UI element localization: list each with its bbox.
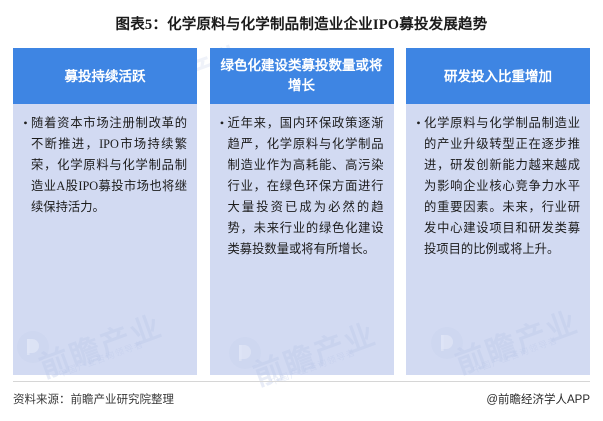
column-1-text: 随着资本市场注册制改革的不断推进，IPO市场持续繁荣，化学原料与化学制品制造业A…	[31, 113, 187, 218]
footer-divider	[13, 381, 590, 382]
column-1: 募投持续活跃 • 随着资本市场注册制改革的不断推进，IPO市场持续繁荣，化学原料…	[13, 48, 197, 375]
column-3-header: 研发投入比重增加	[406, 48, 590, 104]
source-note: 资料来源：前瞻产业研究院整理	[13, 391, 174, 407]
column-3-text: 化学原料与化学制品制造业的产业升级转型正在逐步推进，研发创新能力越来越成为影响企…	[424, 113, 580, 260]
footer: 资料来源：前瞻产业研究院整理 @前瞻经济学人APP	[13, 389, 590, 409]
bullet-icon: •	[21, 113, 30, 134]
column-2-header: 绿色化建设类募投数量或将增长	[210, 48, 394, 104]
publisher-handle: @前瞻经济学人APP	[486, 391, 590, 407]
column-group: 募投持续活跃 • 随着资本市场注册制改革的不断推进，IPO市场持续繁荣，化学原料…	[13, 48, 590, 375]
column-2: 绿色化建设类募投数量或将增长 • 近年来，国内环保政策逐渐趋严，化学原料与化学制…	[210, 48, 394, 375]
bullet-icon: •	[218, 113, 227, 134]
column-1-header: 募投持续活跃	[13, 48, 197, 104]
list-item: • 化学原料与化学制品制造业的产业升级转型正在逐步推进，研发创新能力越来越成为影…	[414, 113, 580, 260]
bullet-icon: •	[414, 113, 423, 134]
column-3-body: • 化学原料与化学制品制造业的产业升级转型正在逐步推进，研发创新能力越来越成为影…	[406, 104, 590, 375]
column-2-text: 近年来，国内环保政策逐渐趋严，化学原料与化学制品制造业作为高耗能、高污染行业，在…	[228, 113, 384, 260]
column-3: 研发投入比重增加 • 化学原料与化学制品制造业的产业升级转型正在逐步推进，研发创…	[406, 48, 590, 375]
column-1-body: • 随着资本市场注册制改革的不断推进，IPO市场持续繁荣，化学原料与化学制品制造…	[13, 104, 197, 375]
page-title: 图表5：化学原料与化学制品制造业企业IPO募投发展趋势	[0, 13, 603, 34]
column-2-body: • 近年来，国内环保政策逐渐趋严，化学原料与化学制品制造业作为高耗能、高污染行业…	[210, 104, 394, 375]
figure-container: 前瞻产业 前瞻产业 图表5：化学原料与化学制品制造业企业IPO募投发展趋势 募投…	[0, 0, 603, 421]
list-item: • 随着资本市场注册制改革的不断推进，IPO市场持续繁荣，化学原料与化学制品制造…	[21, 113, 187, 218]
list-item: • 近年来，国内环保政策逐渐趋严，化学原料与化学制品制造业作为高耗能、高污染行业…	[218, 113, 384, 260]
